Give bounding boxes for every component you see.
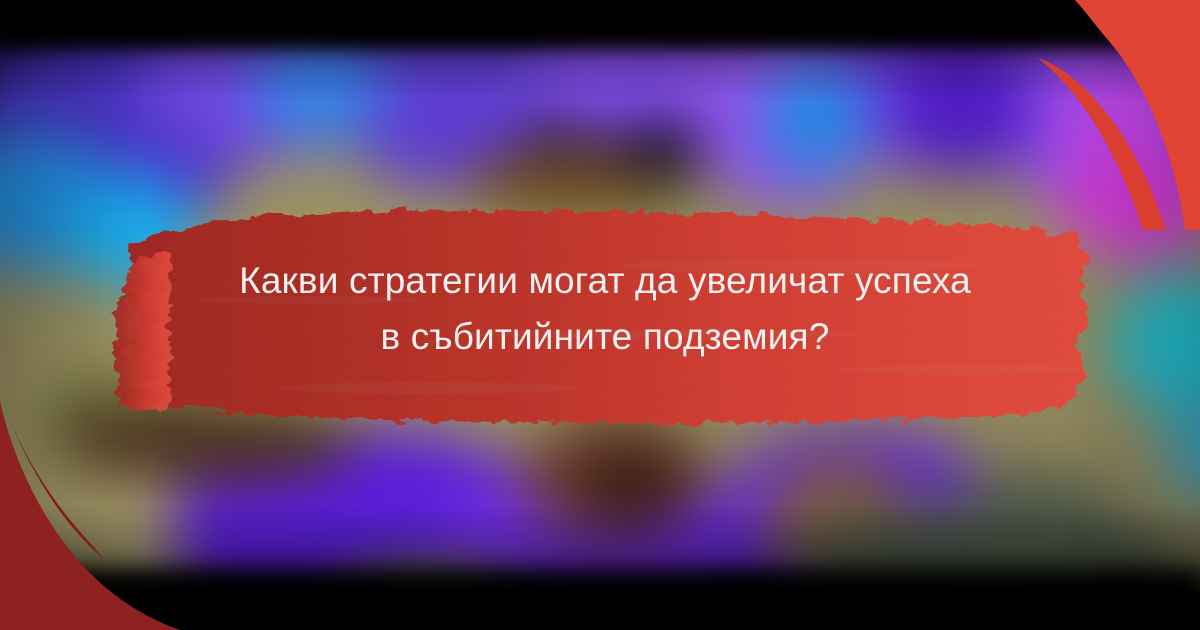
bg-character-blob bbox=[573, 442, 694, 534]
headline-text-block: Какви стратегии могат да увеличат успеха… bbox=[100, 192, 1110, 432]
bg-blue-blob bbox=[251, 33, 385, 146]
bg-purple-blob bbox=[519, 0, 707, 139]
headline-line-1: Какви стратегии могат да увеличат успеха bbox=[239, 253, 971, 309]
bg-purple-blob bbox=[896, 33, 1030, 174]
headline-line-2: в събитийните подземия? bbox=[381, 309, 830, 365]
headline-banner: Какви стратегии могат да увеличат успеха… bbox=[100, 192, 1110, 432]
bg-blue-blob bbox=[761, 61, 869, 174]
share-card: Какви стратегии могат да увеличат успеха… bbox=[0, 0, 1200, 630]
